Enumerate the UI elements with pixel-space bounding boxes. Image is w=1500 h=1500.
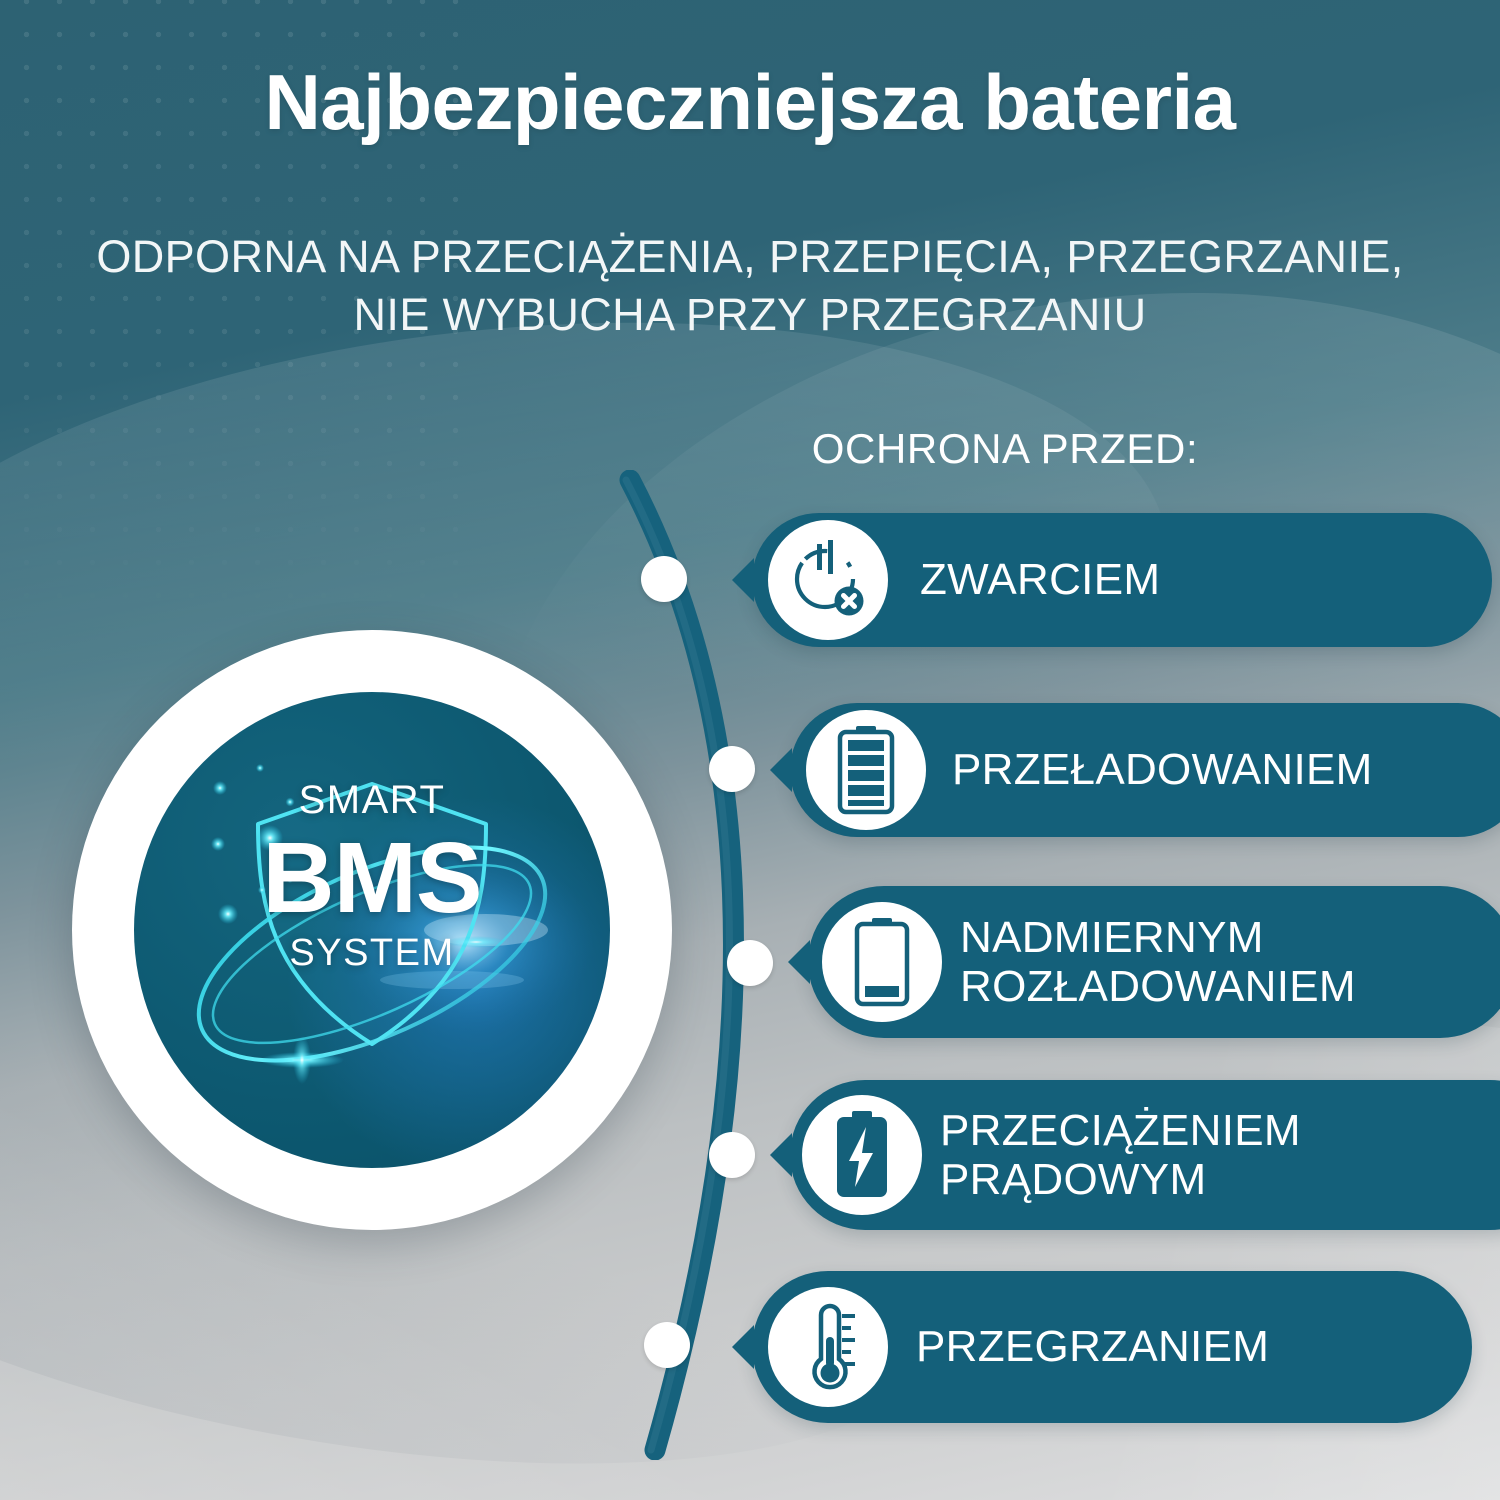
arc-node-4 [709,1132,755,1178]
protection-item-przeciazeniem-pradowym[interactable]: PRZECIĄŻENIEM PRĄDOWYM [790,1080,1500,1230]
protection-heading: OCHRONA PRZED: [720,425,1290,473]
protection-label-2: PRZEŁADOWANIEM [952,745,1373,794]
arc-node-2 [709,746,755,792]
pill-pointer-2 [770,748,792,792]
protection-item-przegrzaniem[interactable]: PRZEGRZANIEM [752,1271,1472,1423]
bms-shield-graphic [134,692,610,1168]
smart-bms-logo: SMART BMS SYSTEM [72,630,672,1230]
bms-inner-circle: SMART BMS SYSTEM [134,692,610,1168]
pill-pointer-5 [732,1325,754,1369]
thermometer-icon [768,1287,888,1407]
page-subtitle: ODPORNA NA PRZECIĄŻENIA, PRZEPIĘCIA, PRZ… [0,228,1500,343]
battery-full-icon [806,710,926,830]
infographic-poster: Najbezpieczniejsza bateria ODPORNA NA PR… [0,0,1500,1500]
pill-pointer-1 [732,558,754,602]
protection-label-4: PRZECIĄŻENIEM PRĄDOWYM [940,1106,1301,1205]
protection-item-przeladowaniem[interactable]: PRZEŁADOWANIEM [790,703,1500,837]
short-circuit-icon [768,520,888,640]
protection-item-nadmiernym-rozladowaniem[interactable]: NADMIERNYM ROZŁADOWANIEM [808,886,1500,1038]
protection-label-3: NADMIERNYM ROZŁADOWANIEM [960,913,1356,1012]
battery-empty-icon [822,902,942,1022]
protection-label-1: ZWARCIEM [920,555,1160,604]
pill-pointer-4 [770,1133,792,1177]
arc-node-3 [727,940,773,986]
arc-node-1 [641,556,687,602]
page-subtitle-line-1: ODPORNA NA PRZECIĄŻENIA, PRZEPIĘCIA, PRZ… [0,228,1500,286]
arc-node-5 [644,1322,690,1368]
page-title: Najbezpieczniejsza bateria [0,62,1500,144]
pill-pointer-3 [788,940,810,984]
battery-bolt-icon [802,1095,922,1215]
protection-item-zwarciem[interactable]: ZWARCIEM [752,513,1492,647]
page-subtitle-line-2: NIE WYBUCHA PRZY PRZEGRZANIU [0,286,1500,344]
protection-label-5: PRZEGRZANIEM [916,1322,1269,1371]
